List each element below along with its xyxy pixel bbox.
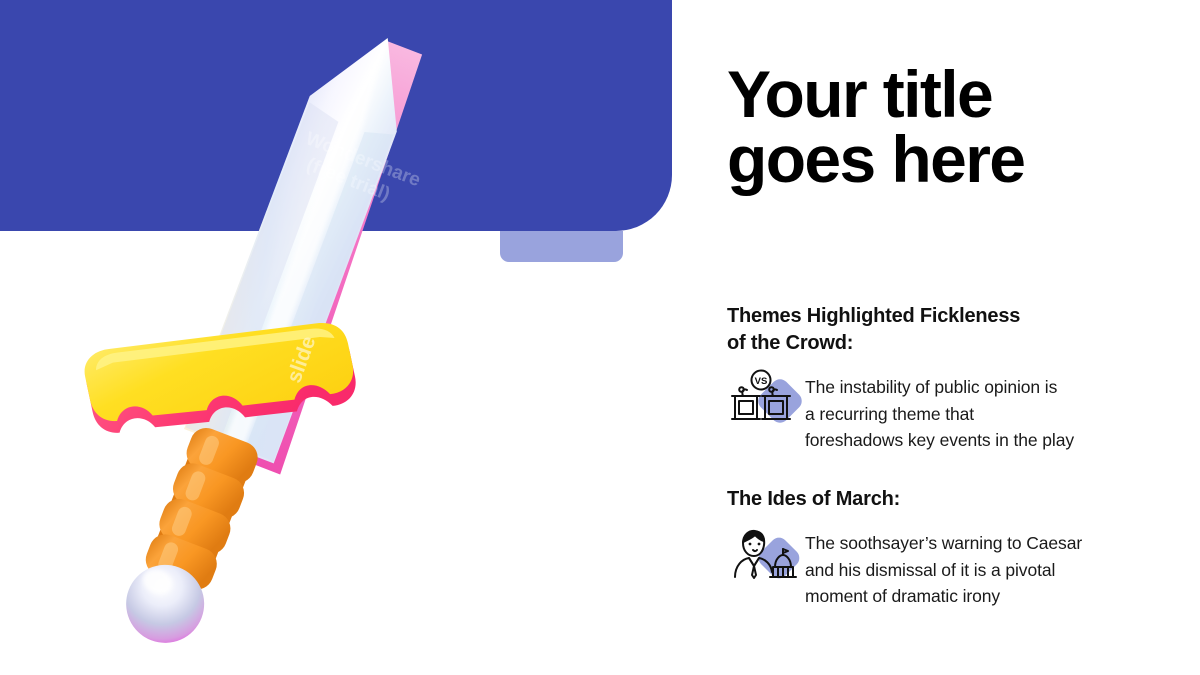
grip-core xyxy=(146,428,258,590)
debate-podiums-vs-icon: VS xyxy=(727,369,805,431)
content-column: Your title goes here Themes Highlighted … xyxy=(727,0,1182,675)
bullet-row: VS The instability of public opinion is … xyxy=(727,369,1177,454)
blue-rounded-panel xyxy=(0,0,672,231)
pommel-sphere xyxy=(115,553,216,654)
grip-highlights xyxy=(156,434,221,573)
guard-highlight xyxy=(93,308,334,388)
page-title: Your title goes here xyxy=(727,62,1187,193)
grip-ring-4 xyxy=(141,530,221,594)
icon-cell xyxy=(727,525,805,587)
grip-ring-1 xyxy=(182,423,262,487)
section-themes-fickleness: Themes Highlighted Fickleness of the Cro… xyxy=(727,303,1177,454)
periwinkle-accent-bar xyxy=(500,231,623,262)
grip-ring-3 xyxy=(155,494,235,558)
guard-shadow xyxy=(82,308,360,455)
section-heading: Themes Highlighted Fickleness of the Cro… xyxy=(727,303,1177,357)
icon-cell: VS xyxy=(727,369,805,431)
pommel-specular xyxy=(139,565,176,598)
bullet-text: The soothsayer’s warning to Caesar and h… xyxy=(805,525,1082,610)
vs-badge-label: VS xyxy=(755,376,768,387)
bullet-text: The instability of public opinion is a r… xyxy=(805,369,1074,454)
soothsayer-capitol-icon xyxy=(727,525,805,587)
guard-watermark: slide xyxy=(282,333,320,386)
bullet-row: The soothsayer’s warning to Caesar and h… xyxy=(727,525,1177,610)
grip-ring-2 xyxy=(168,459,248,523)
slide-canvas: Wondershare (free trial) xyxy=(0,0,1200,675)
guard-body xyxy=(80,300,357,443)
section-heading: The Ides of March: xyxy=(727,486,1177,513)
section-ides-of-march: The Ides of March: xyxy=(727,486,1177,610)
